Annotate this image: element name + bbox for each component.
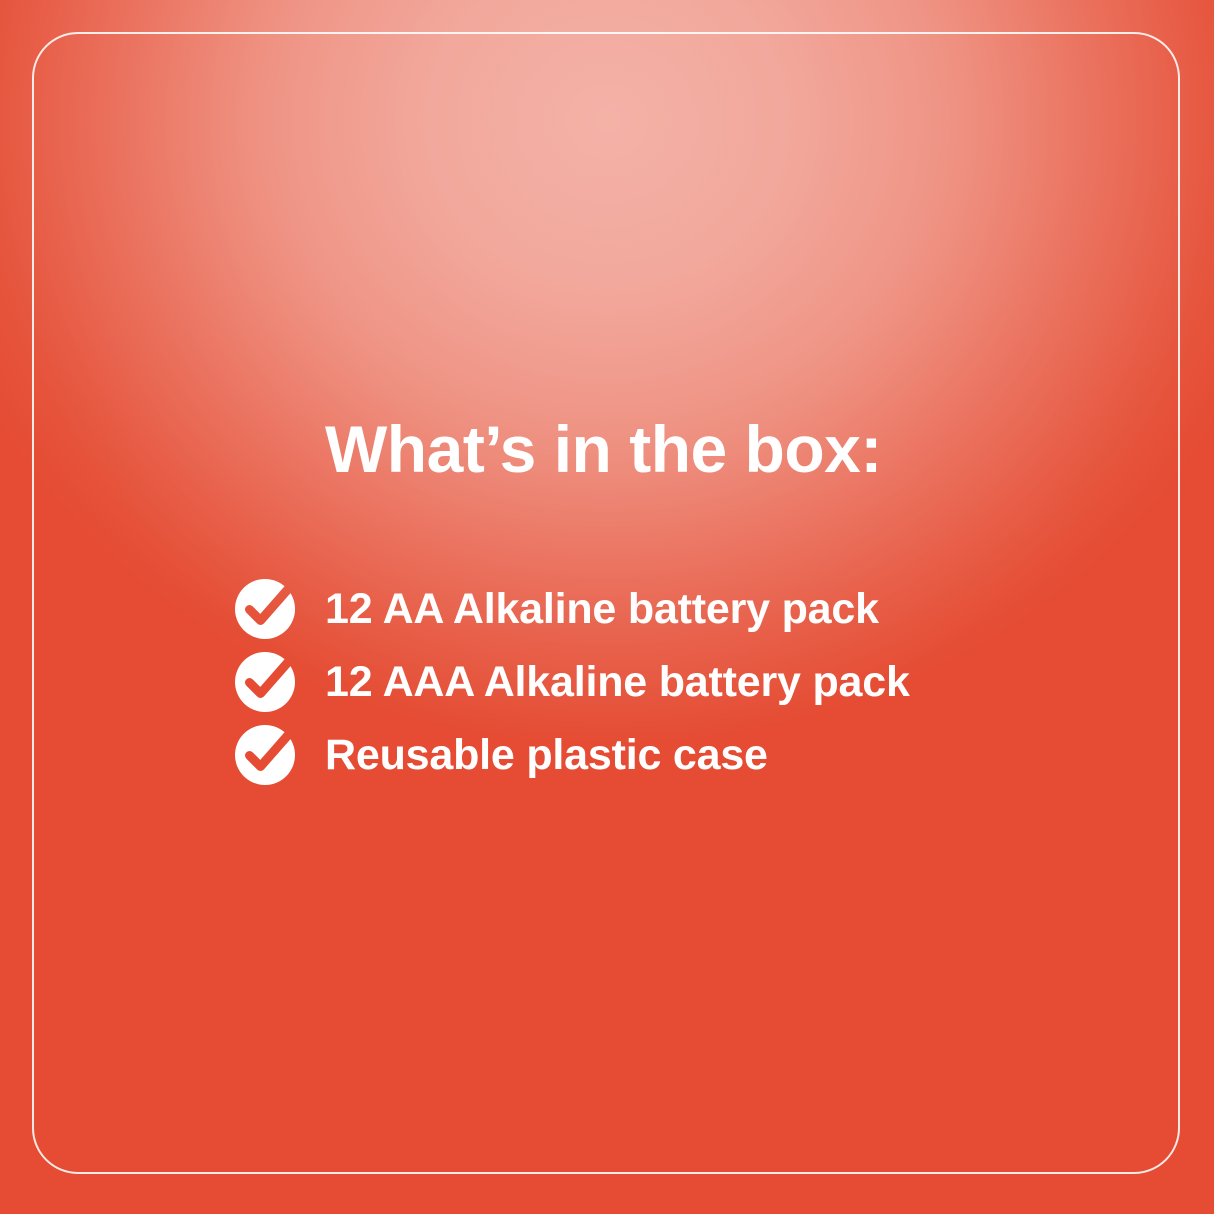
check-circle-icon xyxy=(234,724,296,786)
list-item-label: 12 AA Alkaline battery pack xyxy=(325,588,879,631)
list-item-label: Reusable plastic case xyxy=(325,734,768,777)
product-feature-panel: What’s in the box: 12 AA Alkaline batter… xyxy=(0,0,1214,1214)
box-contents-list: 12 AA Alkaline battery pack 12 AAA Alkal… xyxy=(234,578,910,797)
list-item-label: 12 AAA Alkaline battery pack xyxy=(325,661,910,704)
list-item: Reusable plastic case xyxy=(234,724,910,786)
panel-content: What’s in the box: 12 AA Alkaline batter… xyxy=(0,0,1214,1214)
check-circle-icon xyxy=(234,651,296,713)
list-item: 12 AA Alkaline battery pack xyxy=(234,578,910,640)
page-title: What’s in the box: xyxy=(325,415,882,484)
list-item: 12 AAA Alkaline battery pack xyxy=(234,651,910,713)
check-circle-icon xyxy=(234,578,296,640)
